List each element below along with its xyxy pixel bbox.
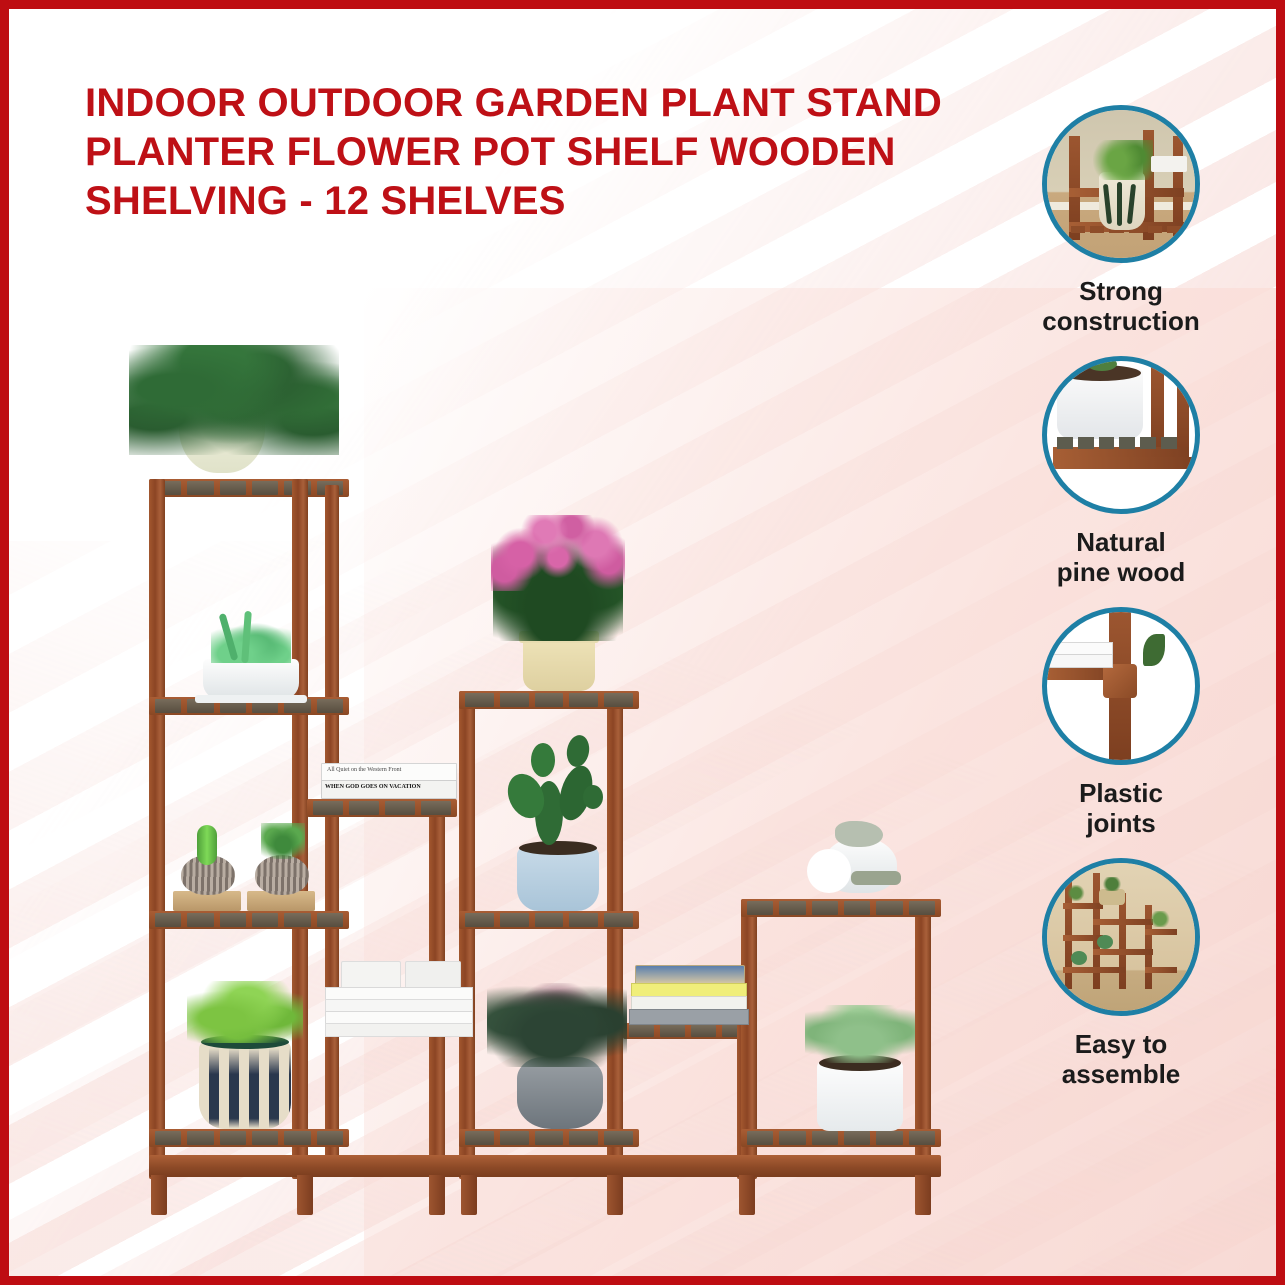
- plant-grass-in-white-bowl: [185, 611, 315, 703]
- shelf-bottom-center: [459, 1129, 639, 1147]
- leg-foot: [429, 1175, 445, 1215]
- shelf-book-ledge-right: [623, 1023, 753, 1039]
- base-rail: [149, 1155, 941, 1177]
- shelf-book-ledge: [307, 799, 457, 817]
- leg-foot: [297, 1175, 313, 1215]
- feature-natural-pine-wood: Natural pine wood: [976, 356, 1266, 587]
- shelf-top-right: [741, 899, 941, 917]
- leg-foot: [607, 1175, 623, 1215]
- feature-image-natural-pine-wood: [1042, 356, 1200, 514]
- plant-prickly-pear-cactus: [487, 729, 627, 913]
- page-title: INDOOR OUTDOOR GARDEN PLANT STAND PLANTE…: [85, 79, 965, 226]
- product-marketing-image: INDOOR OUTDOOR GARDEN PLANT STAND PLANTE…: [0, 0, 1285, 1285]
- feature-easy-to-assemble: Easy to assemble: [976, 858, 1266, 1089]
- leg-foot: [461, 1175, 477, 1215]
- feature-image-plastic-joints: [1042, 607, 1200, 765]
- book-stack-colour: [629, 965, 749, 1025]
- shelf-bottom-right: [741, 1129, 941, 1147]
- leg-foot: [739, 1175, 755, 1215]
- feature-caption: Plastic joints: [976, 778, 1266, 838]
- leg-foot: [915, 1175, 931, 1215]
- book-stack-white: [319, 959, 479, 1041]
- feature-strong-construction: Strong construction: [976, 105, 1266, 336]
- book-pair: All Quiet on the Western Front WHEN GOD …: [321, 763, 455, 799]
- feature-image-easy-to-assemble: [1042, 858, 1200, 1016]
- book-title-1: All Quiet on the Western Front: [327, 767, 401, 773]
- feature-image-strong-construction: [1042, 105, 1200, 263]
- feature-caption: Easy to assemble: [976, 1029, 1266, 1089]
- product-plant-stand-illustration: All Quiet on the Western Front WHEN GOD …: [129, 329, 1009, 1209]
- feature-caption: Strong construction: [976, 276, 1266, 336]
- shelf-bottom-left: [149, 1129, 349, 1147]
- plant-trailing-ivy: [139, 349, 369, 489]
- decor-white-ceramic-sculpture: [789, 819, 919, 901]
- shelf-top-center: [459, 691, 639, 709]
- shelf-mid-center: [459, 911, 639, 929]
- feature-callout-list: Strong construction Natural pine wood: [976, 105, 1266, 1109]
- leg-foot: [151, 1175, 167, 1215]
- feature-plastic-joints: Plastic joints: [976, 607, 1266, 838]
- plant-two-striped-pots: [167, 817, 323, 915]
- book-title-2: WHEN GOD GOES ON VACATION: [325, 784, 421, 790]
- plant-striped-navy-pot: [177, 981, 313, 1131]
- plant-succulent-white-pot: [795, 989, 925, 1131]
- plant-dark-foliage-grey-pot: [481, 979, 631, 1131]
- feature-caption: Natural pine wood: [976, 527, 1266, 587]
